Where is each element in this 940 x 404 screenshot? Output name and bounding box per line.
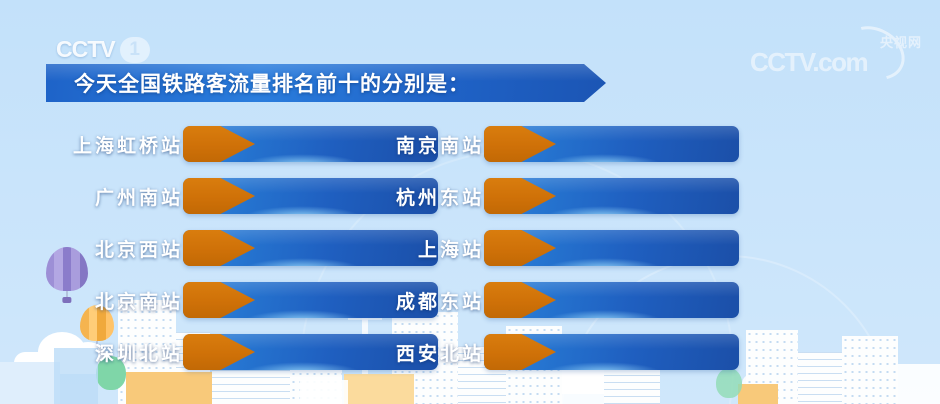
station-name: 杭州东站 (484, 178, 528, 214)
broadcast-graphic: CCTV 1 CCTV.com 央视网 今天全国铁路客流量排名前十的分别是： 上… (0, 0, 940, 404)
station-name: 北京南站 (183, 282, 205, 318)
station-name: 广州南站 (183, 178, 205, 214)
station-ranking-list: 上海虹桥站 广州南站 北京西站 北京南站 深圳北站 (0, 0, 940, 404)
station-name: 北京西站 (183, 230, 205, 266)
station-name: 南京南站 (484, 126, 528, 162)
station-name: 上海站 (484, 230, 528, 266)
station-name: 成都东站 (484, 282, 528, 318)
station-name: 西安北站 (484, 334, 528, 370)
station-name: 上海虹桥站 (183, 126, 205, 162)
station-name: 深圳北站 (183, 334, 205, 370)
